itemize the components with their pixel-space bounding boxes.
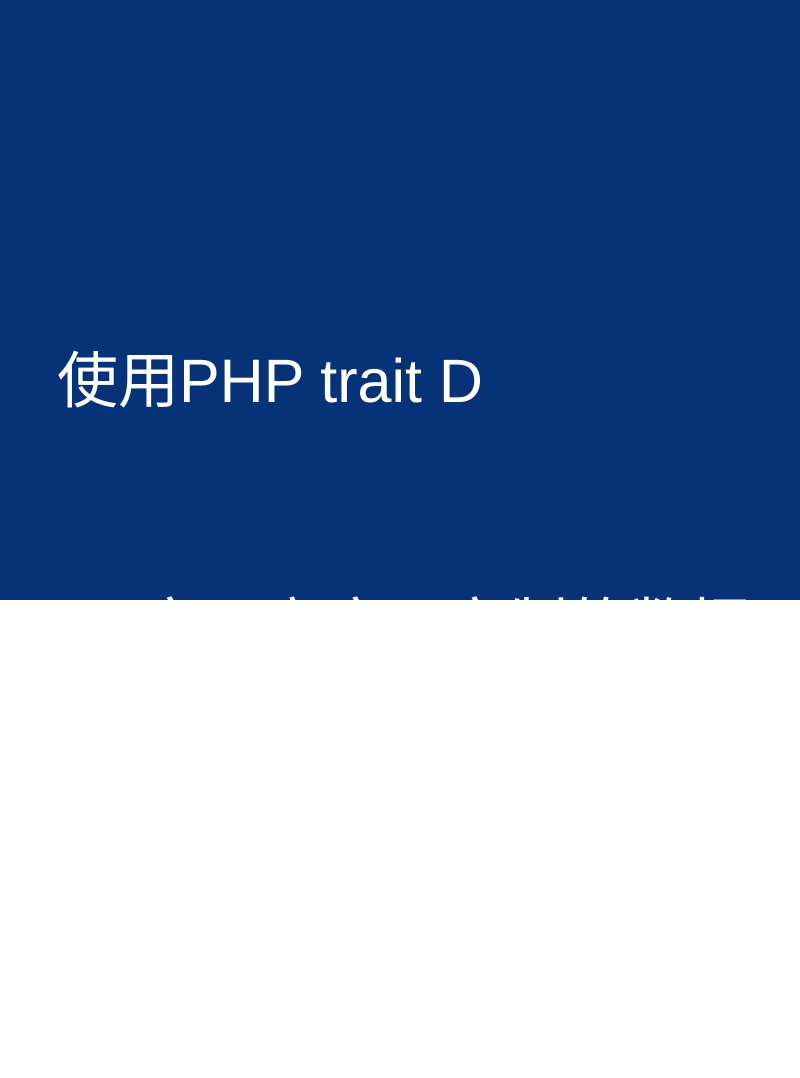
title-line-1: 使用PHP trait D	[57, 340, 757, 422]
title-line-3: 传输框架	[57, 832, 757, 914]
title-card-canvas: 使用PHP trait D TO实现高度可定制的数据 传输框架	[0, 0, 800, 600]
page-title: 使用PHP trait D TO实现高度可定制的数据 传输框架	[57, 176, 757, 1078]
title-line-2: TO实现高度可定制的数据	[57, 586, 757, 668]
